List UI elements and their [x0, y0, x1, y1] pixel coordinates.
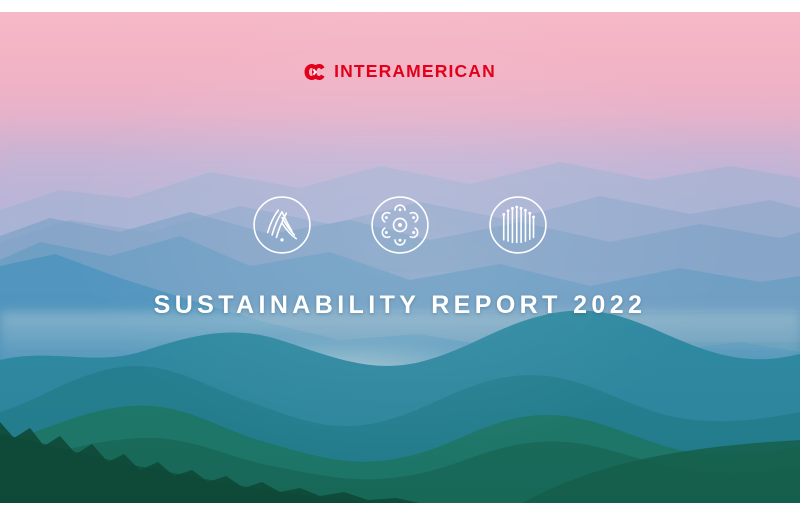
letterbox-top-bar: [0, 0, 800, 12]
mandala-circles-icon: [369, 194, 431, 256]
reeds-pins-icon: [487, 194, 549, 256]
pillar-icons-row: [0, 194, 800, 256]
report-cover-page: INTERAMERICAN: [0, 0, 800, 520]
interamerican-double-arrow-mark: [304, 62, 326, 82]
mountains-arches-icon: [251, 194, 313, 256]
foreground-right-slope: [0, 430, 800, 503]
cover-background-photo: [0, 12, 800, 503]
brand-wordmark: INTERAMERICAN: [334, 63, 496, 81]
report-title: SUSTAINABILITY REPORT 2022: [0, 292, 800, 320]
brand-logo: INTERAMERICAN: [0, 62, 800, 82]
letterbox-bottom-bar: [0, 503, 800, 520]
